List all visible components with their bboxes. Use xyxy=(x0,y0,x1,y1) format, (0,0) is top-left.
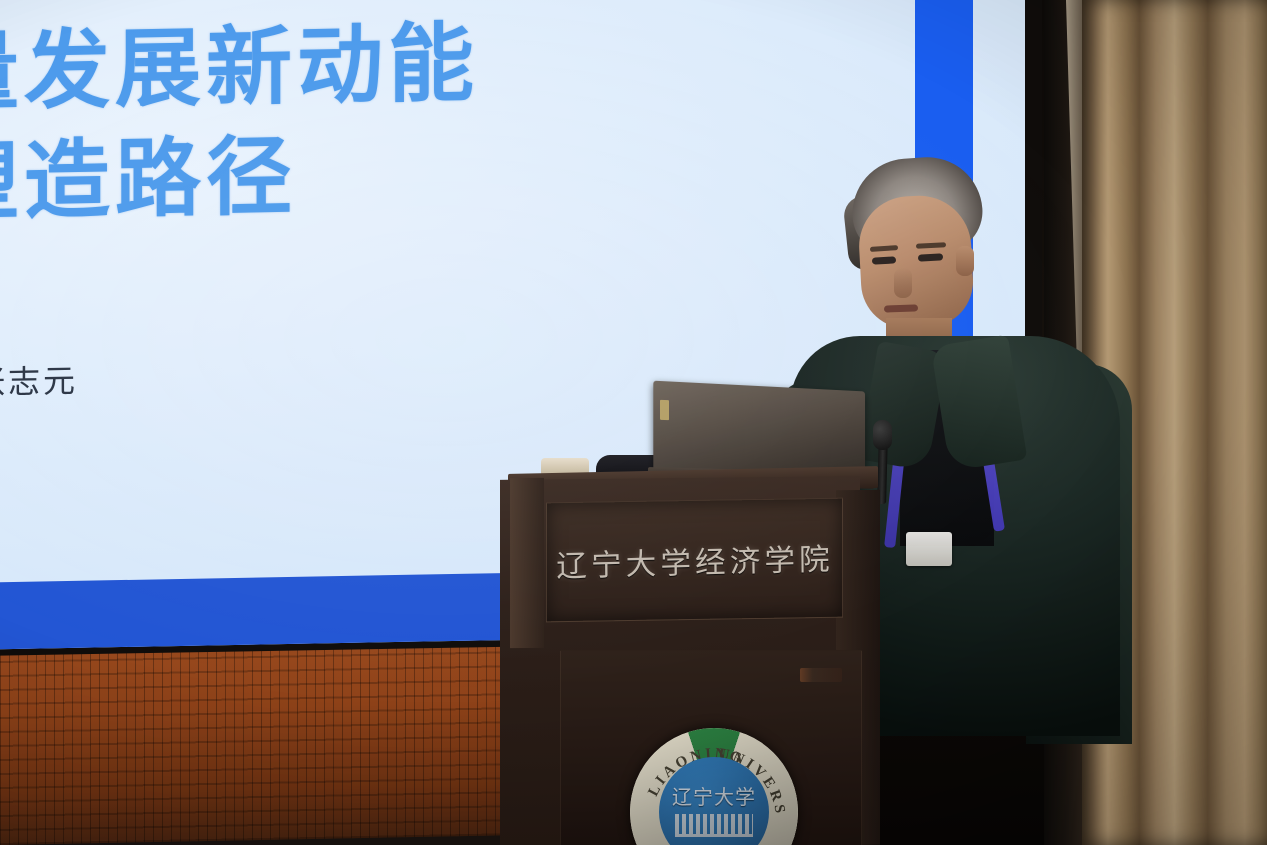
lecture-photo-scene: stern University 质量发展新动能 与塑造路径 ：张志元 xyxy=(0,0,1267,845)
emblem-building-graphic xyxy=(675,814,753,837)
plaque-text: 辽宁大学经济学院 xyxy=(556,534,834,585)
slide-presenter-name: ：张志元 xyxy=(0,356,78,405)
ear xyxy=(956,246,974,276)
name-badge xyxy=(906,532,952,566)
microphone-head xyxy=(873,420,892,450)
slide-title-line-2: 与塑造路径 xyxy=(0,119,479,241)
eye-right xyxy=(918,253,943,261)
emblem-center-text: 辽宁大学 xyxy=(672,781,756,810)
nose xyxy=(894,268,912,298)
eye-left xyxy=(872,256,896,264)
mouth xyxy=(884,304,918,312)
podium-left-column xyxy=(510,478,544,648)
slide-title: 质量发展新动能 与塑造路径 xyxy=(0,8,479,240)
university-emblem: LIAONING UNIVERSITY 辽宁大学 xyxy=(630,728,798,845)
laptop-sticker xyxy=(660,400,669,420)
podium-brand-plate xyxy=(800,668,842,682)
podium-name-plaque: 辽宁大学经济学院 xyxy=(546,498,843,623)
slide-title-line-1: 质量发展新动能 xyxy=(0,15,479,123)
